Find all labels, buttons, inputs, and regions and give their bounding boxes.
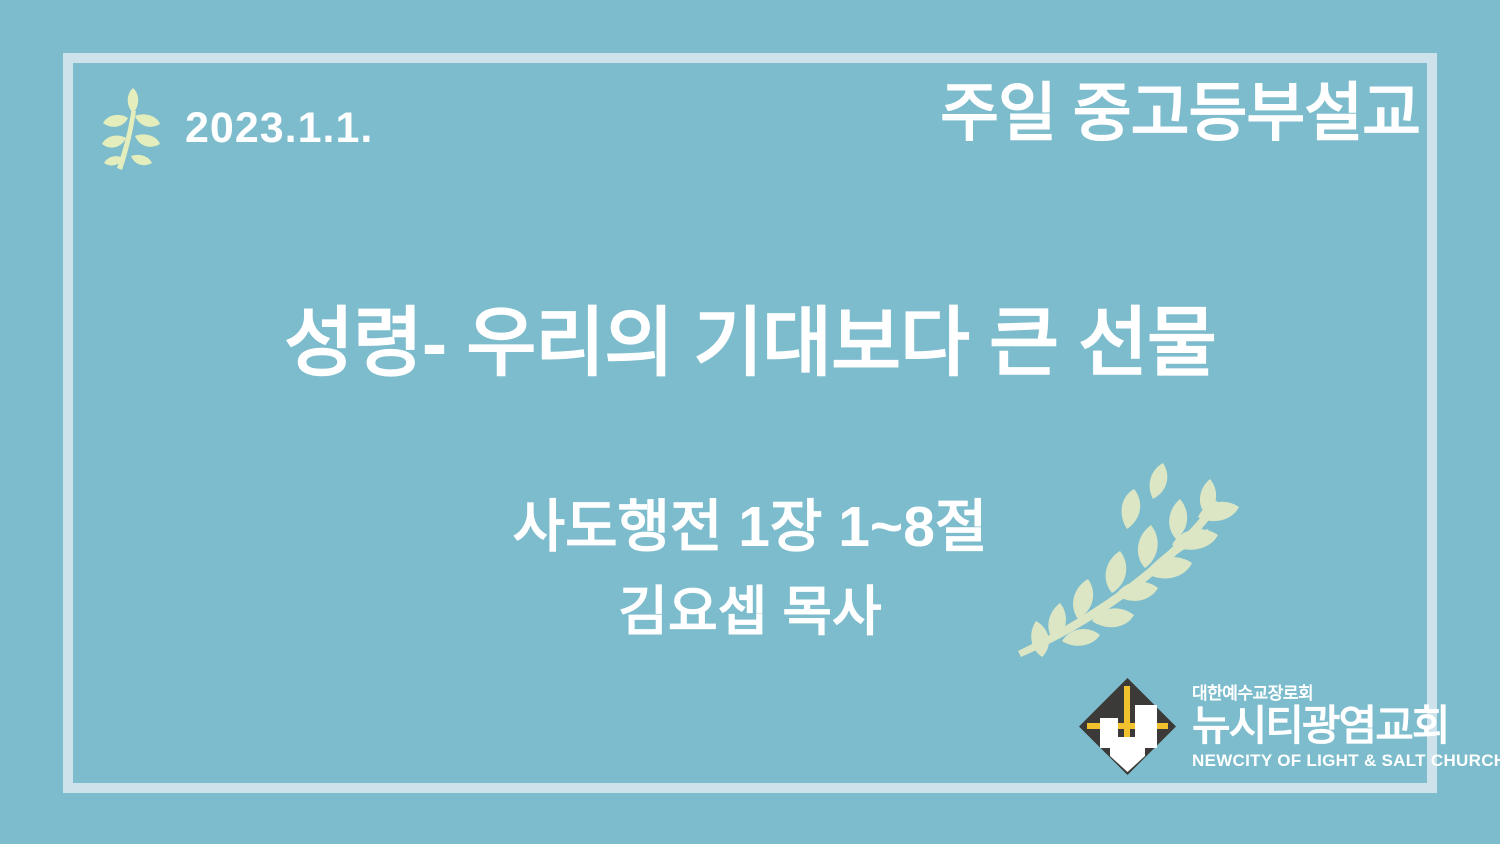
church-diamond-cross-emblem-icon: [1075, 674, 1180, 779]
speaker-name: 김요셉 목사: [0, 580, 1500, 645]
sermon-title-slide: 2023.1.1. 주일 중고등부설교 성령- 우리의 기대보다 큰 선물 사도…: [0, 0, 1500, 844]
church-logo: 대한예수교장로회 뉴시티광염교회 NEWCITY OF LIGHT & SALT…: [1075, 674, 1500, 779]
sermon-date: 2023.1.1.: [185, 107, 373, 150]
logo-denomination: 대한예수교장로회: [1192, 685, 1500, 702]
sermon-title: 성령- 우리의 기대보다 큰 선물: [0, 300, 1500, 387]
logo-name-korean: 뉴시티광염교회: [1192, 705, 1500, 747]
header-date-group: 2023.1.1.: [95, 82, 373, 174]
scripture-reference: 사도행전 1장 1~8절: [0, 493, 1500, 561]
leaf-sprig-icon: [95, 82, 167, 174]
sermon-info-block: 성령- 우리의 기대보다 큰 선물 사도행전 1장 1~8절 김요셉 목사: [0, 300, 1500, 645]
logo-wordmark: 대한예수교장로회 뉴시티광염교회 NEWCITY OF LIGHT & SALT…: [1192, 685, 1500, 769]
service-title: 주일 중고등부설교: [940, 78, 1420, 148]
logo-name-english: NEWCITY OF LIGHT & SALT CHURCH: [1192, 752, 1500, 769]
